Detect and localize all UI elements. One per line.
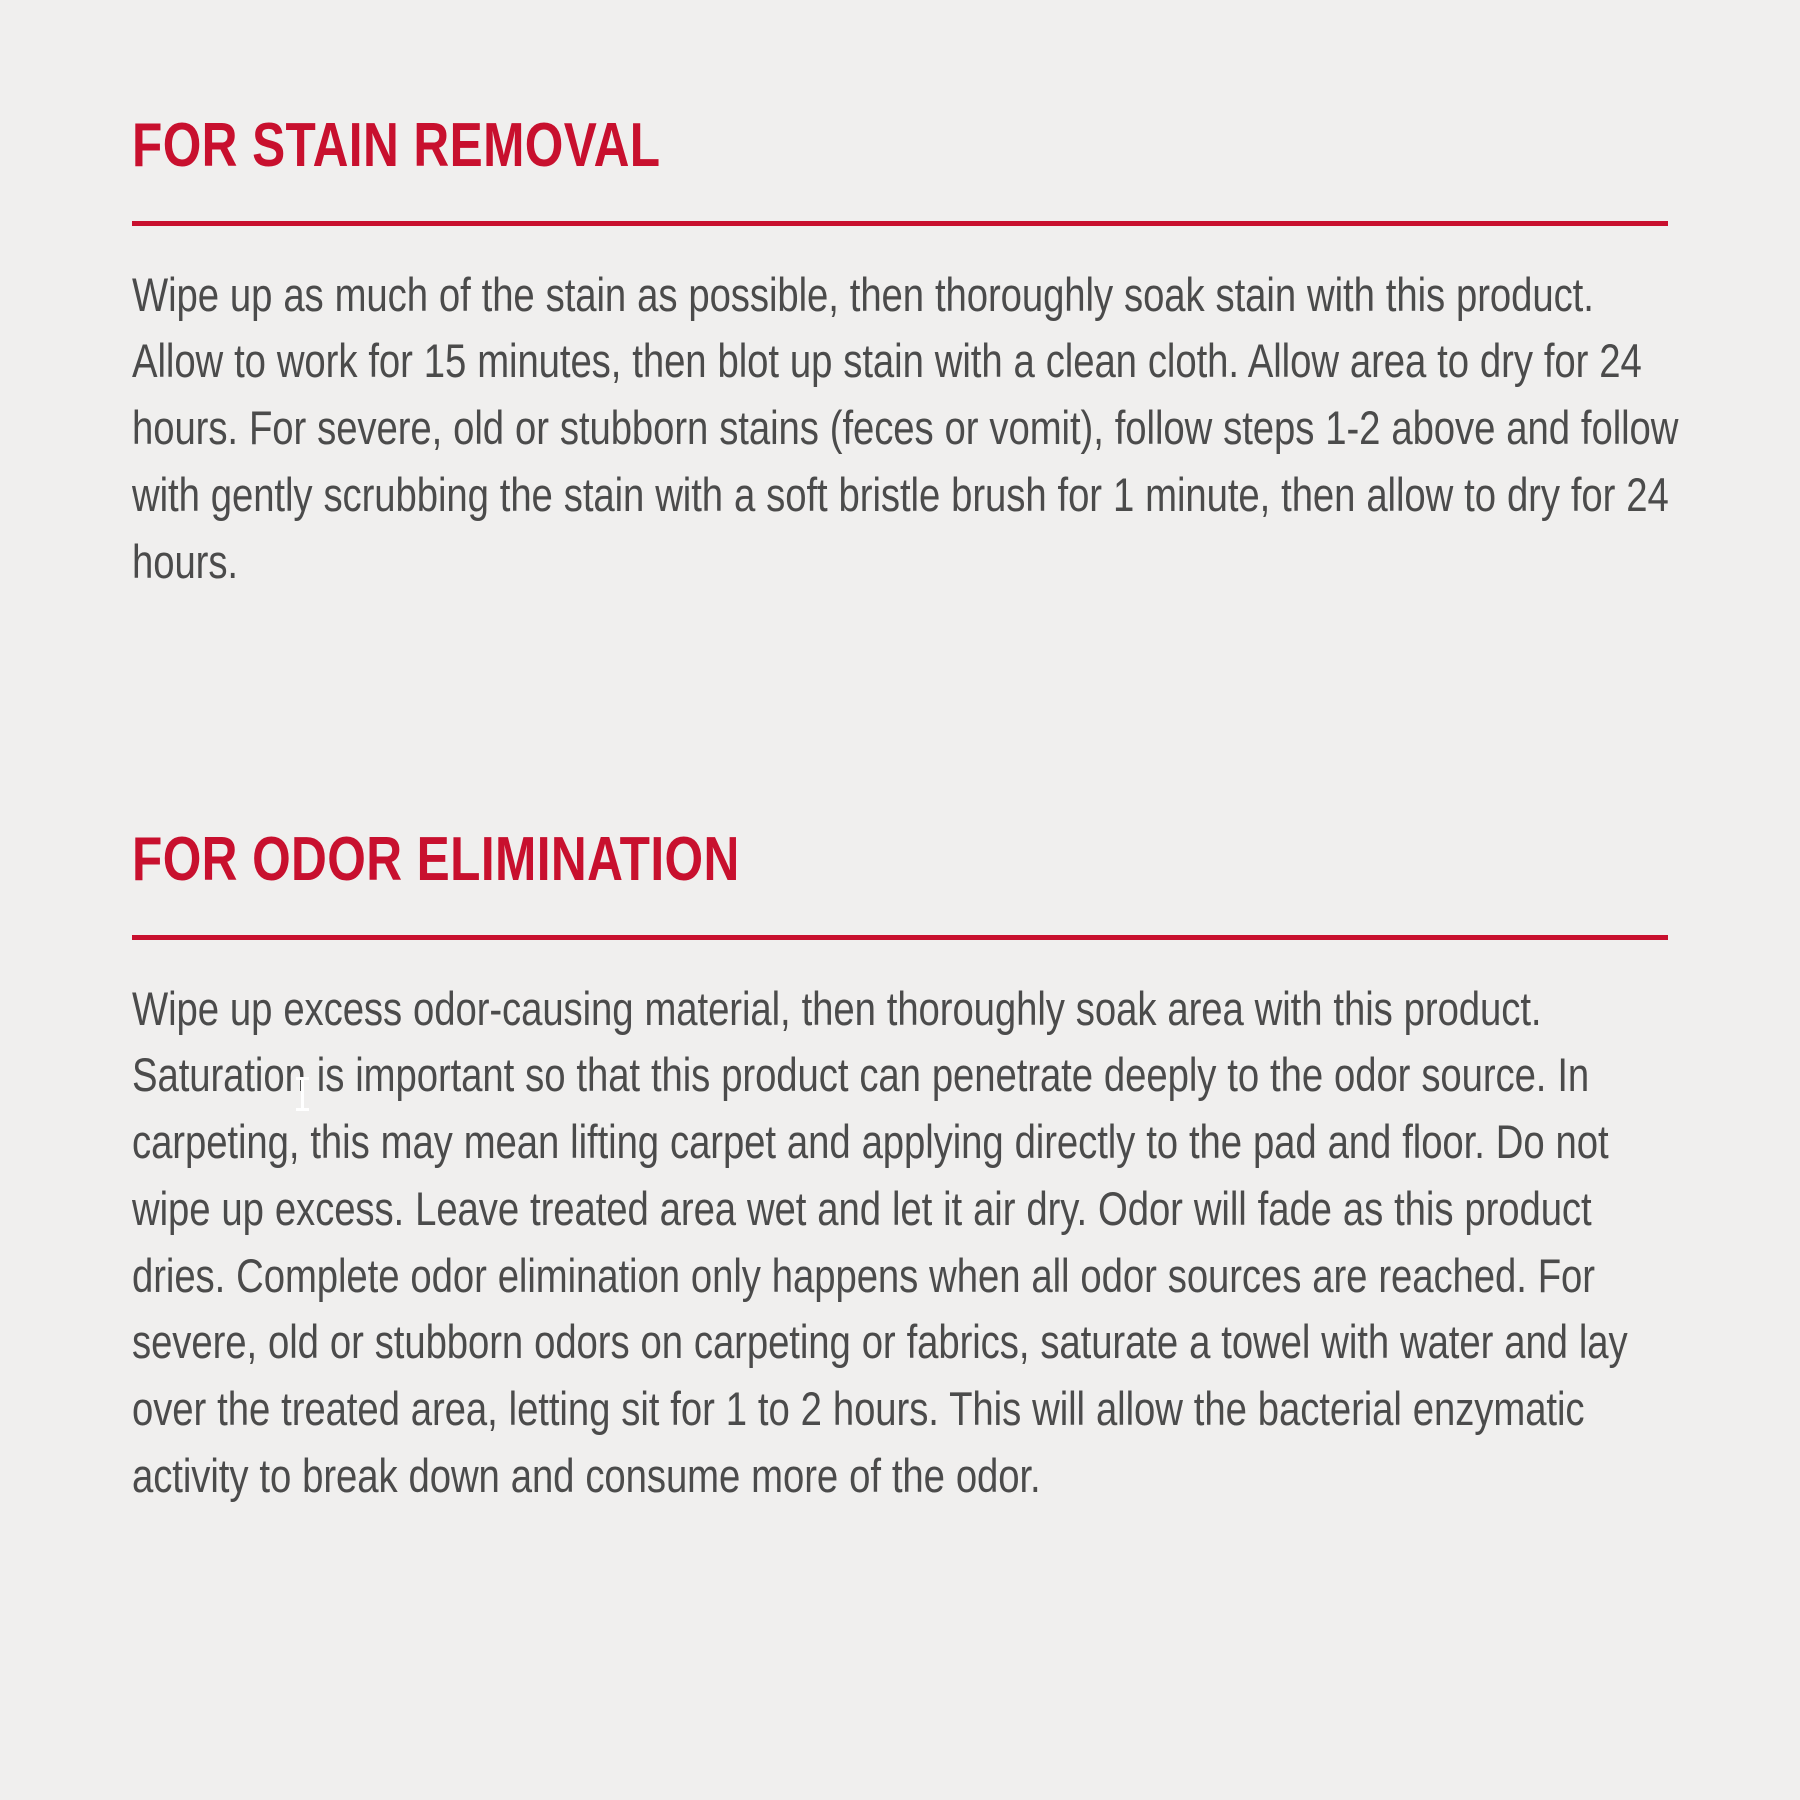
section-divider-odor-elimination (132, 935, 1668, 940)
section-heading-odor-elimination: FOR ODOR ELIMINATION (132, 830, 1361, 891)
section-divider-stain-removal (132, 221, 1668, 226)
section-body-odor-elimination: Wipe up excess odor-causing material, th… (132, 976, 1681, 1510)
section-stain-removal: FOR STAIN REMOVAL Wipe up as much of the… (132, 116, 1668, 595)
section-heading-stain-removal: FOR STAIN REMOVAL (132, 116, 1361, 177)
section-odor-elimination: FOR ODOR ELIMINATION Wipe up excess odor… (132, 830, 1668, 1510)
instructions-page: FOR STAIN REMOVAL Wipe up as much of the… (0, 0, 1800, 1800)
section-body-stain-removal: Wipe up as much of the stain as possible… (132, 262, 1681, 596)
